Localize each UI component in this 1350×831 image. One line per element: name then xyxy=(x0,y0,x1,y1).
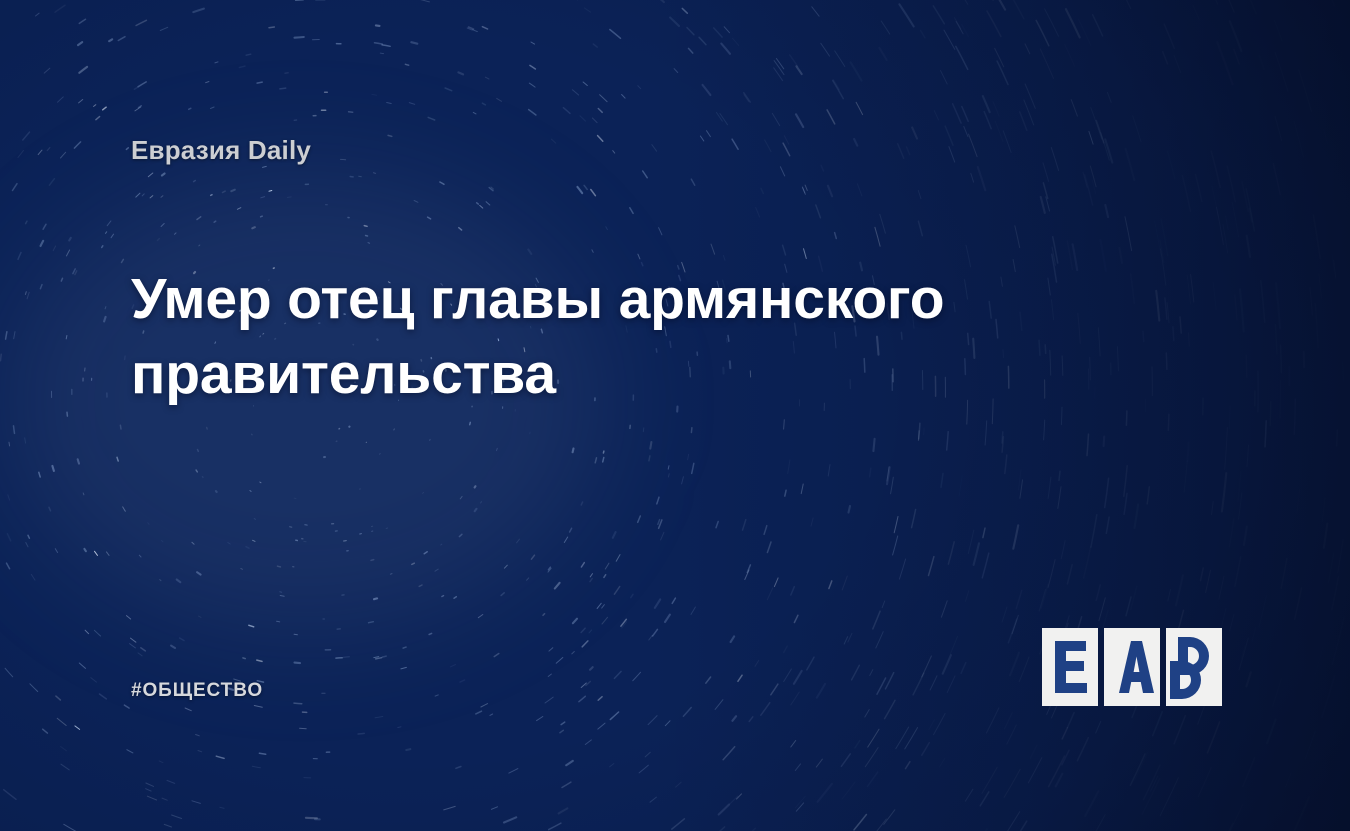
headline: Умер отец главы армянского правительства xyxy=(131,262,1011,412)
card-content: Евразия Daily Умер отец главы армянского… xyxy=(0,0,1350,831)
category-tag[interactable]: #ОБЩЕСТВО xyxy=(131,680,263,702)
logo-tile-a xyxy=(1104,628,1160,706)
logo-tile-e xyxy=(1042,628,1098,706)
news-card: Евразия Daily Умер отец главы армянского… xyxy=(0,0,1350,831)
logo-tile-d xyxy=(1166,628,1222,706)
publisher-name: Евразия Daily xyxy=(131,135,311,166)
eadaily-logo[interactable] xyxy=(1042,628,1222,706)
